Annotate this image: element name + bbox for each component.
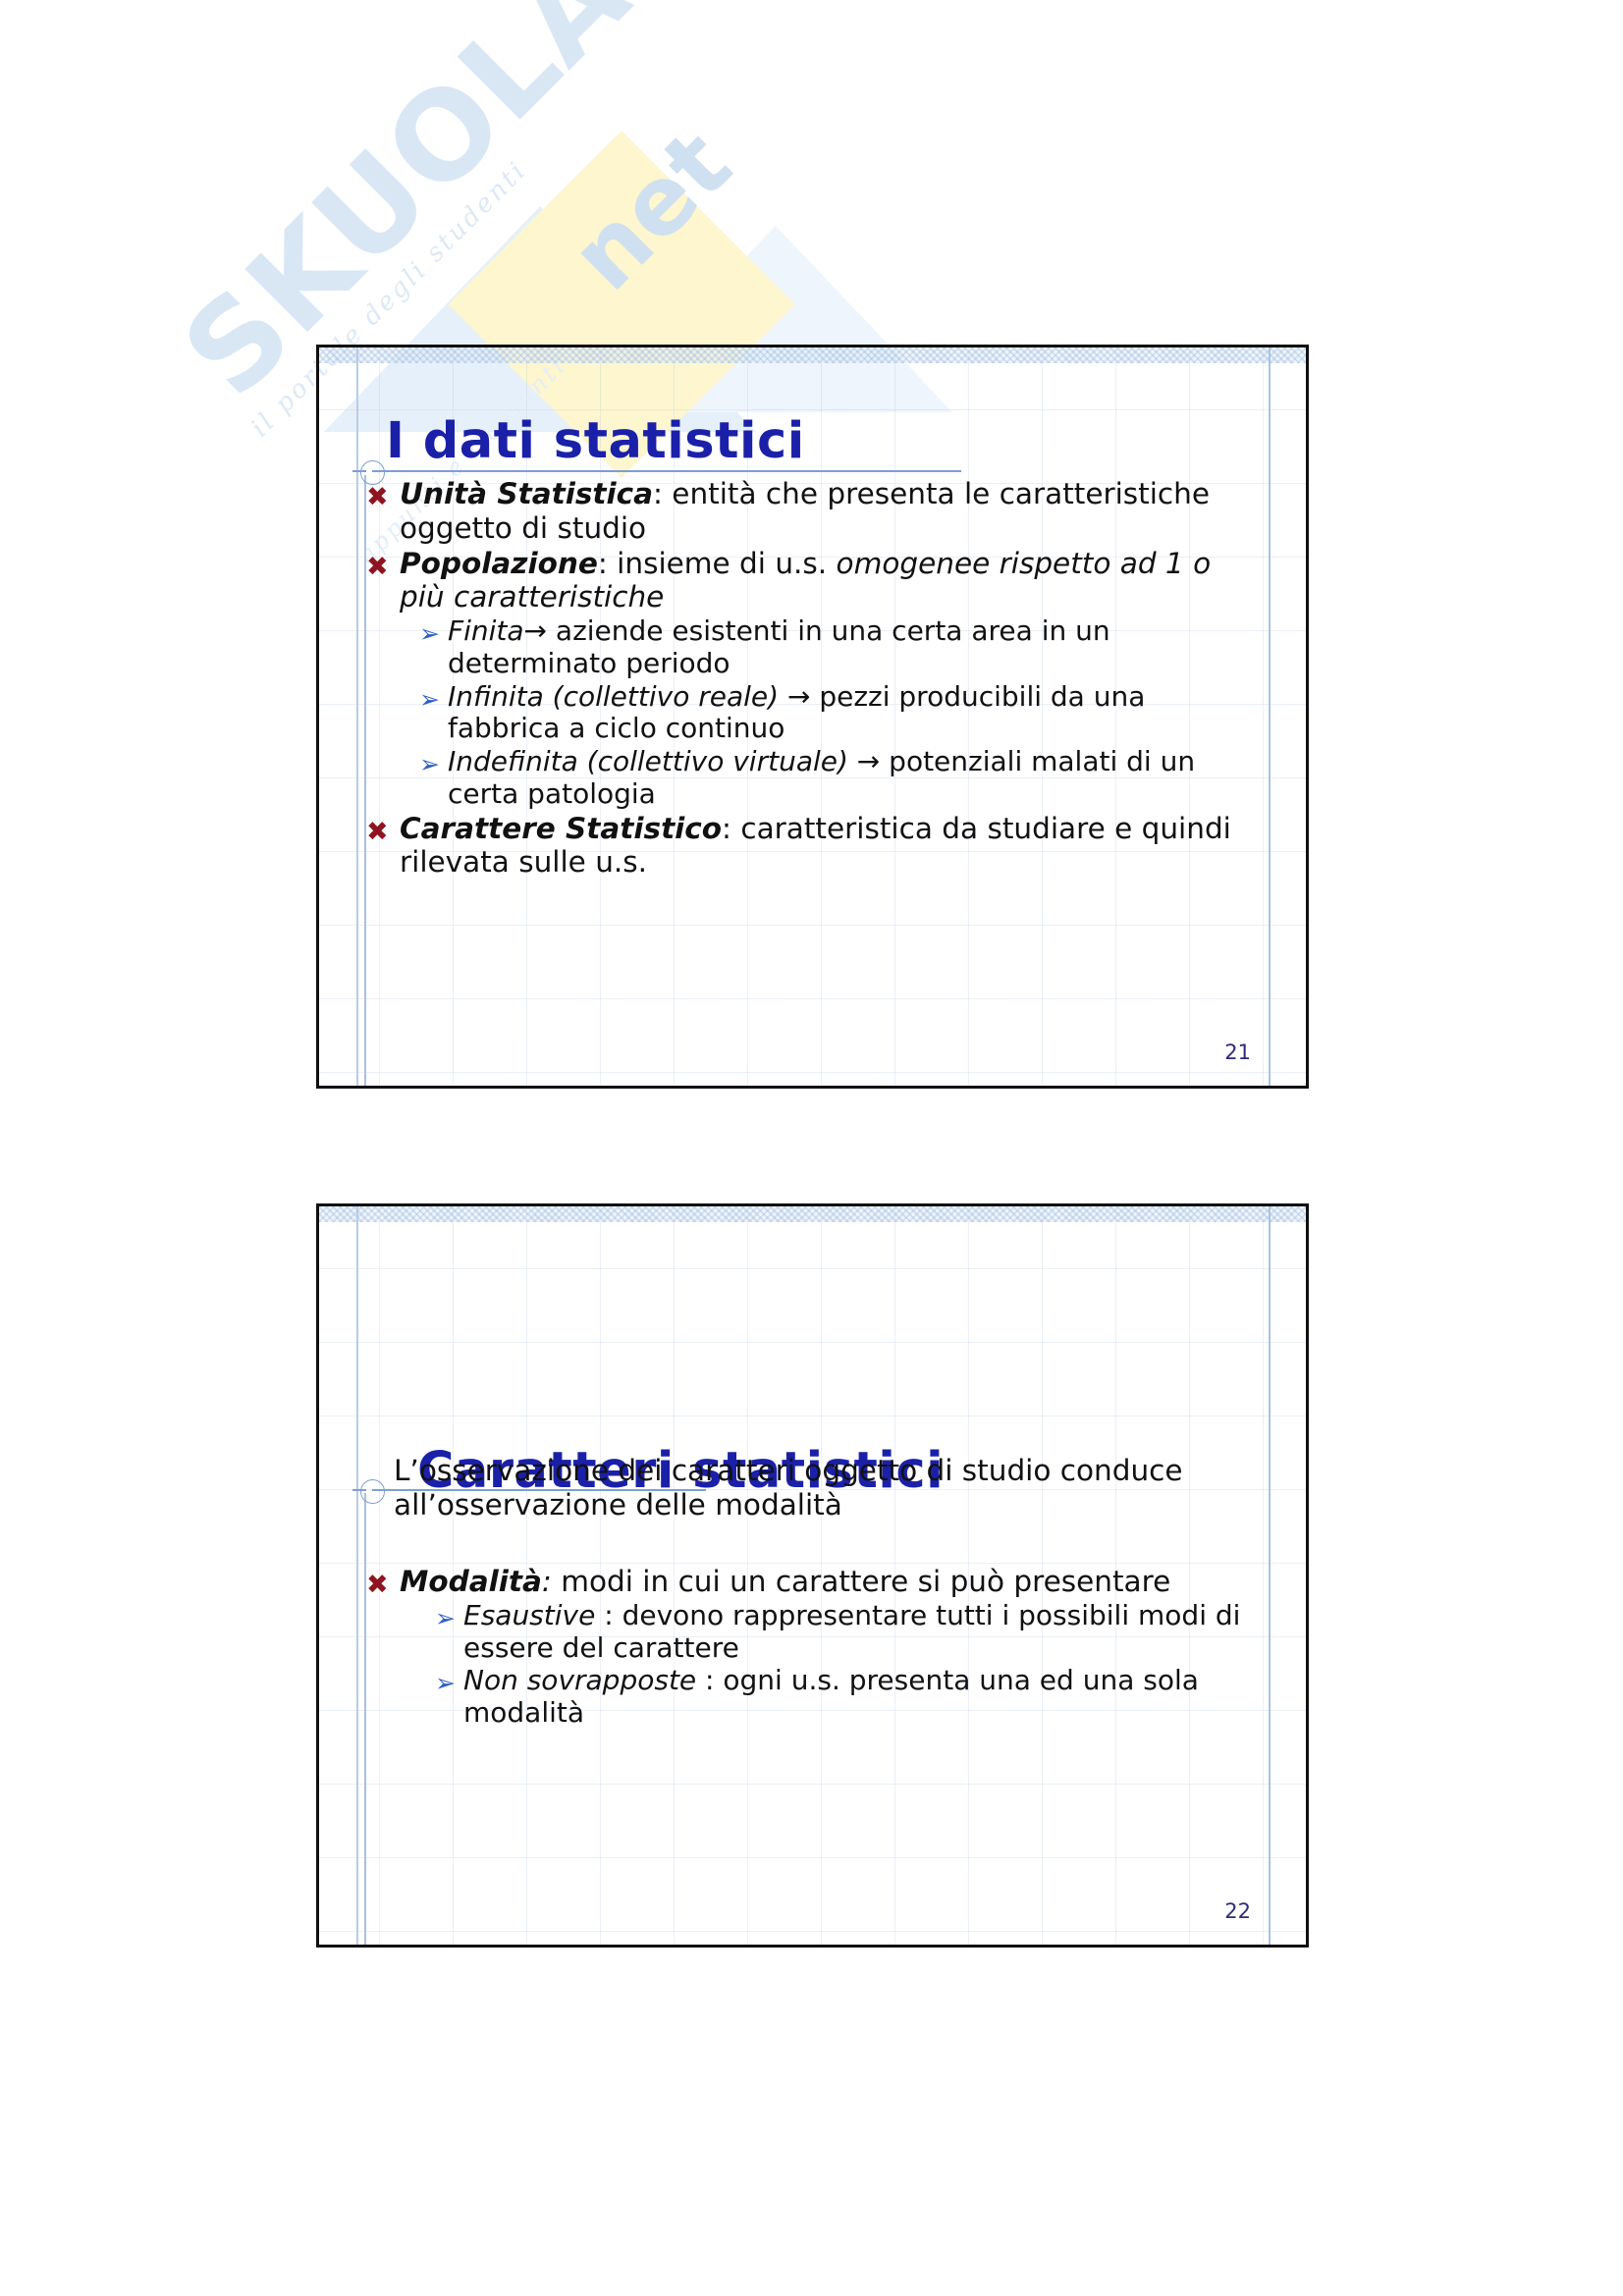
bullet-text: Infinita (collettivo reale) → pezzi prod… — [448, 681, 1255, 746]
bullet-text: Esaustive : devono rappresentare tutti i… — [463, 1600, 1255, 1665]
bullet-item: ➢Esaustive : devono rappresentare tutti … — [435, 1600, 1255, 1665]
arrow-bullet-icon: ➢ — [435, 1600, 463, 1630]
cross-bullet-icon: ✖ — [366, 1565, 400, 1598]
arrow-bullet-icon: ➢ — [419, 746, 448, 776]
slide-1-body: I dati statistici ✖Unità Statistica: ent… — [319, 347, 1306, 1086]
cross-bullet-icon: ✖ — [366, 547, 400, 580]
bullet-item: ✖Popolazione: insieme di u.s. omogenee r… — [366, 547, 1255, 615]
bullet-item: ✖Carattere Statistico: caratteristica da… — [366, 812, 1255, 881]
slide-2-bullet-list: ✖Modalità: modi in cui un carattere si p… — [366, 1565, 1255, 1731]
cross-bullet-icon: ✖ — [366, 812, 400, 845]
watermark-suffix-text: net — [550, 109, 752, 311]
slide-1-page-number: 21 — [1224, 1041, 1251, 1064]
bullet-item: ➢Finita→ aziende esistenti in una certa … — [419, 615, 1255, 680]
bullet-text: Indefinita (collettivo virtuale) → poten… — [448, 746, 1255, 811]
arrow-bullet-icon: ➢ — [435, 1665, 463, 1695]
bullet-text: Finita→ aziende esistenti in una certa a… — [448, 615, 1255, 680]
slide-2-intro-paragraph: L’osservazione dei caratteri oggetto di … — [394, 1454, 1238, 1523]
slide-2: Caratteri statistici L’osservazione dei … — [316, 1203, 1309, 1948]
bullet-item: ➢Indefinita (collettivo virtuale) → pote… — [419, 746, 1255, 811]
slide-1-title: I dati statistici — [386, 412, 805, 470]
bullet-item: ➢Infinita (collettivo reale) → pezzi pro… — [419, 681, 1255, 746]
cross-bullet-icon: ✖ — [366, 477, 400, 510]
bullet-text: Unità Statistica: entità che presenta le… — [400, 477, 1255, 546]
slide-1: I dati statistici ✖Unità Statistica: ent… — [316, 345, 1309, 1089]
bullet-item: ✖Modalità: modi in cui un carattere si p… — [366, 1565, 1255, 1599]
slide-2-page-number: 22 — [1224, 1899, 1251, 1923]
bullet-item: ✖Unità Statistica: entità che presenta l… — [366, 477, 1255, 546]
bullet-text: Non sovrapposte : ogni u.s. presenta una… — [463, 1665, 1255, 1730]
slide-2-body: Caratteri statistici L’osservazione dei … — [319, 1206, 1306, 1945]
bullet-text: Carattere Statistico: caratteristica da … — [400, 812, 1255, 881]
slide-1-bullet-list: ✖Unità Statistica: entità che presenta l… — [366, 477, 1255, 881]
arrow-bullet-icon: ➢ — [419, 681, 448, 712]
bullet-item: ➢Non sovrapposte : ogni u.s. presenta un… — [435, 1665, 1255, 1730]
arrow-bullet-icon: ➢ — [419, 615, 448, 646]
bullet-text: Popolazione: insieme di u.s. omogenee ri… — [400, 547, 1255, 615]
bullet-text: Modalità: modi in cui un carattere si pu… — [400, 1565, 1255, 1599]
